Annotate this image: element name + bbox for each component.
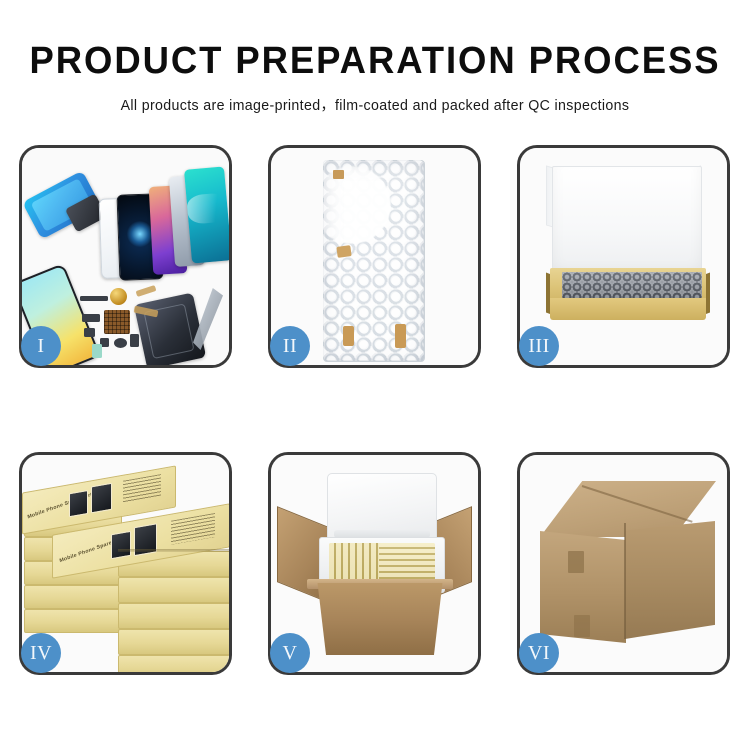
grey-foam-insert	[562, 272, 702, 298]
packed-retail-boxes	[379, 543, 435, 583]
white-box-lid	[552, 166, 702, 280]
process-step-panel-4[interactable]: Mobile Phone Spare Parts Mobile Phone Sp…	[19, 452, 232, 675]
carton-front-face	[309, 583, 451, 655]
box-edge-shadow	[118, 549, 229, 552]
step-badge-6: VI	[519, 633, 559, 673]
step-badge-label: II	[283, 336, 297, 356]
process-step-panel-3[interactable]: III	[517, 145, 730, 368]
logic-board-part	[104, 310, 130, 334]
step-badge-label: IV	[30, 643, 52, 663]
tape-strip	[343, 326, 354, 346]
page-title: PRODUCT PREPARATION PROCESS	[15, 42, 735, 80]
bubble-wrap-bag	[323, 160, 425, 362]
step-badge-3: III	[519, 326, 559, 366]
foam-box-lid	[327, 473, 437, 543]
carton-vertical-seam	[624, 523, 626, 639]
yellow-box-front	[550, 298, 706, 320]
page-subtitle: All products are image-printed，film-coat…	[8, 94, 743, 115]
page-header: PRODUCT PREPARATION PROCESS All products…	[0, 0, 750, 115]
phone-teal-display	[184, 166, 229, 263]
retail-box-window	[69, 490, 88, 517]
retail-box-window	[91, 483, 112, 514]
battery-part	[92, 344, 102, 358]
camera-lens-part	[110, 288, 127, 305]
step-badge-label: V	[283, 643, 298, 663]
retail-box	[24, 609, 122, 633]
speaker-part	[80, 296, 108, 301]
process-step-panel-6[interactable]: VI	[517, 452, 730, 675]
retail-box	[24, 585, 122, 609]
process-step-grid: I II III	[19, 145, 731, 675]
step-badge-label: III	[528, 336, 549, 356]
tape-strip	[336, 245, 351, 258]
tape-strip	[395, 324, 406, 348]
retail-box-window	[111, 531, 131, 560]
retail-box-spec-lines	[171, 513, 215, 545]
step-badge-1: I	[21, 326, 61, 366]
connector-part	[82, 314, 100, 322]
process-step-panel-1[interactable]: I	[19, 145, 232, 368]
step-badge-label: I	[37, 336, 44, 356]
retail-box	[118, 629, 229, 655]
step-badge-4: IV	[21, 633, 61, 673]
process-step-panel-2[interactable]: II	[268, 145, 481, 368]
retail-box-spec-lines	[123, 474, 161, 503]
tape-strip	[333, 170, 344, 179]
vibrator-part	[114, 338, 127, 348]
carton-right-face	[625, 521, 715, 639]
step-badge-2: II	[270, 326, 310, 366]
carton-tape-patch	[568, 551, 584, 573]
step-badge-5: V	[270, 633, 310, 673]
retail-box	[118, 655, 229, 672]
step-badge-label: VI	[528, 643, 550, 663]
retail-box	[118, 577, 229, 603]
sim-tray-part	[130, 334, 139, 347]
small-ic-part	[84, 328, 95, 337]
process-step-panel-5[interactable]: V	[268, 452, 481, 675]
carton-tape-patch	[574, 615, 590, 637]
retail-box	[118, 603, 229, 629]
